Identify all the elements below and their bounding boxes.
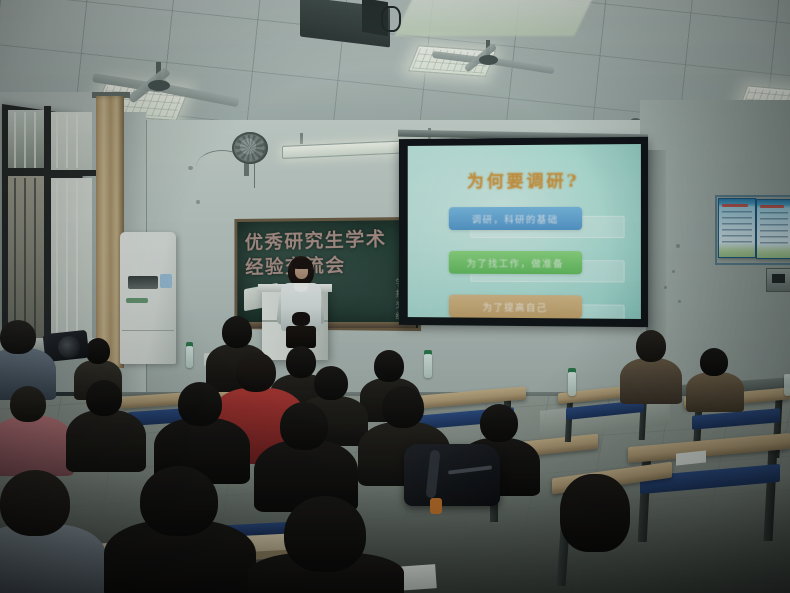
audience-person — [0, 524, 106, 593]
window-security-bar — [76, 114, 78, 168]
slide-bullet-bar-tan: 为了提高自己 — [449, 295, 582, 319]
slide-bullet-bar-blue: 调研，科研的基础 — [449, 207, 582, 230]
ceiling-fan-hub — [479, 55, 498, 65]
classroom-photo-scene: 优秀研究生学术 经验交流会 学术 报告 交流 经验 为何要调研? 调研，科研的基… — [0, 0, 790, 593]
audience-person-head — [286, 346, 316, 378]
chalkboard-title-text: 优秀研究生学术 经验交流会 — [244, 227, 404, 281]
audience-person-head — [0, 470, 70, 536]
audience-person-head — [382, 386, 424, 428]
projection-screen: 为何要调研? 调研，科研的基础 为了找工作，做准备 为了提高自己 — [399, 137, 648, 327]
notice-poster — [756, 199, 790, 259]
audience-person-head — [10, 386, 46, 422]
backpack-tag — [430, 498, 442, 514]
presenter-collar — [294, 283, 308, 292]
audience-person-head — [86, 380, 122, 416]
audience-person — [686, 372, 744, 412]
air-conditioner-seam — [122, 330, 174, 331]
poster-text-lines — [760, 212, 789, 246]
window-security-bar — [14, 112, 16, 168]
audience-person-head — [374, 350, 404, 382]
water-bottle — [424, 354, 432, 378]
slide-bullet-bar-green: 为了找工作，做准备 — [449, 251, 582, 274]
window-security-bar — [34, 178, 36, 336]
presenter-hair-front — [292, 258, 312, 269]
slide-title: 为何要调研? — [408, 166, 641, 192]
air-conditioner-vent — [128, 276, 158, 289]
window-security-bar — [56, 114, 58, 168]
audience-person — [620, 358, 682, 404]
notice-poster — [718, 198, 756, 258]
audience-person-head — [178, 382, 222, 426]
window-security-bar — [34, 112, 36, 168]
presenter-hands — [292, 312, 310, 326]
audience-person-head — [280, 402, 328, 450]
right-wall-edge — [646, 150, 666, 350]
poster-heading-bar — [722, 204, 748, 207]
window-security-bar — [14, 178, 16, 336]
camera-lens-icon — [58, 336, 80, 358]
slide-bullet-text: 为了提高自己 — [449, 299, 582, 314]
audience-person-head — [700, 348, 728, 376]
window-security-bar — [66, 180, 68, 336]
audience-person-head — [560, 474, 630, 552]
air-conditioner-display — [160, 274, 172, 288]
poster-heading-bar — [760, 205, 784, 208]
wall-mark — [188, 166, 193, 170]
wall-fan-pull-cord[interactable] — [254, 162, 255, 188]
air-conditioner-logo — [126, 298, 148, 303]
window-security-bar — [24, 112, 26, 168]
slide-bullet-text: 为了找工作，做准备 — [449, 255, 582, 269]
audience-person-head — [86, 338, 110, 364]
window-security-bar — [76, 180, 78, 336]
water-bottle — [568, 372, 576, 396]
slide-bullet-text: 调研，科研的基础 — [449, 211, 582, 225]
audience-person — [66, 410, 146, 472]
projection-screen-surface: 为何要调研? 调研，科研的基础 为了找工作，做准备 为了提高自己 — [408, 144, 641, 319]
water-bottle — [784, 374, 790, 396]
wall-mark — [678, 300, 681, 303]
backpack — [404, 444, 500, 506]
audience-person-head — [284, 496, 366, 572]
wall-mark — [672, 270, 675, 273]
wall-mark — [676, 244, 680, 248]
wall-mark — [664, 286, 667, 289]
audience-person-head — [140, 466, 218, 536]
audience-person-head — [636, 330, 666, 362]
window-security-bar — [66, 114, 68, 168]
window-mullion — [44, 106, 51, 346]
wall-control-box-screen — [772, 274, 785, 283]
audience-person-head — [222, 316, 252, 348]
audience-person-head — [236, 352, 276, 392]
window-security-bar — [24, 178, 26, 336]
presenter-skirt — [286, 326, 316, 348]
tube-light-bracket — [300, 133, 303, 144]
window-security-bar — [56, 180, 58, 336]
projector-cable — [381, 6, 401, 32]
poster-text-lines — [722, 211, 752, 245]
ceiling-skylight — [394, 0, 594, 36]
wall-fan-icon — [232, 132, 268, 164]
wall-mark — [196, 200, 200, 204]
ceiling-fan-hub — [148, 80, 170, 91]
audience-person — [0, 416, 74, 476]
water-bottle — [186, 346, 193, 368]
audience-person-head — [0, 320, 36, 354]
audience-person-head — [314, 366, 348, 400]
audience-person-head — [480, 404, 518, 442]
